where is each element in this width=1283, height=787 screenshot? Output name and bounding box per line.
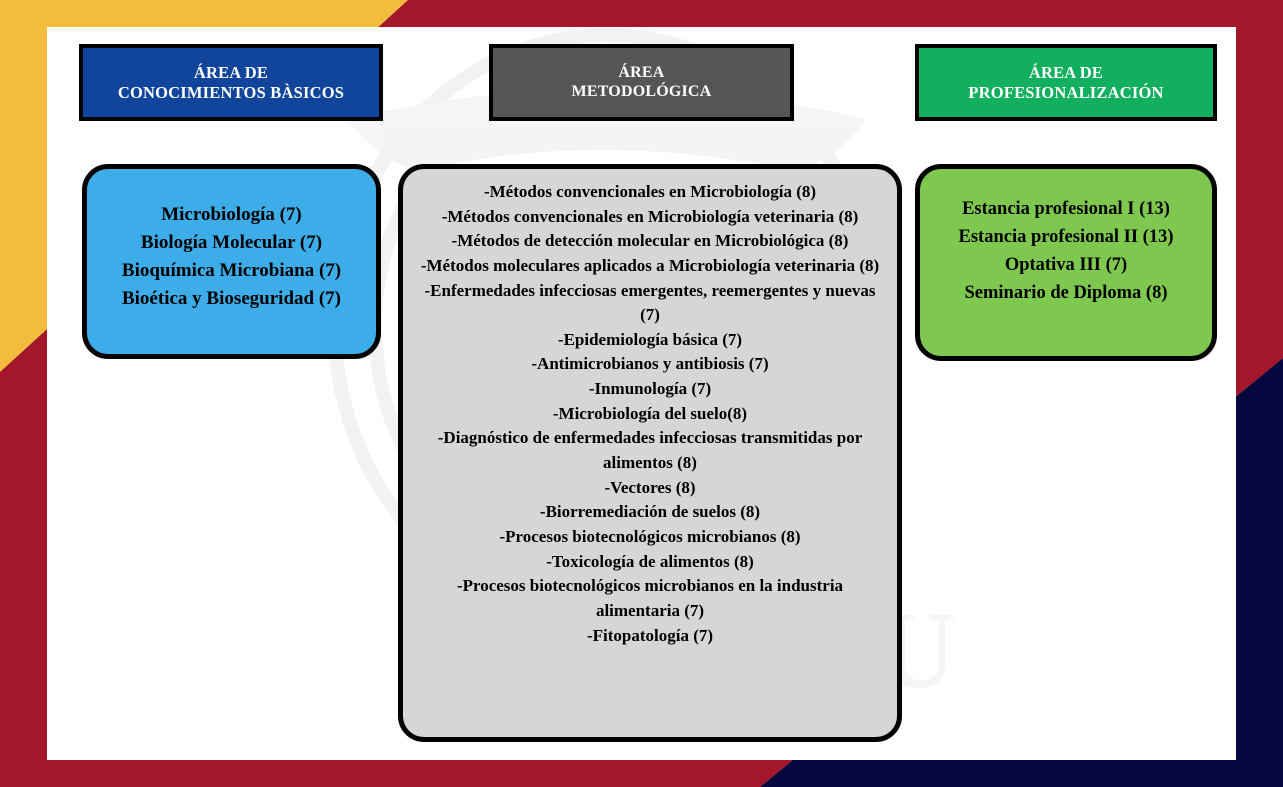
card-conocimientos-basicos[interactable]: Microbiología (7) Biología Molecular (7)… [82, 164, 381, 359]
slide-root: U ÁREA DE CONOCIMIENTOS BÀSICOS ÁREA MET… [0, 0, 1283, 787]
course-item: -Enfermedades infecciosas emergentes, re… [417, 279, 883, 328]
course-item: -Procesos biotecnológicos microbianos (8… [417, 525, 883, 550]
course-item: -Diagnóstico de enfermedades infecciosas… [417, 426, 883, 475]
course-item: -Epidemiología básica (7) [417, 328, 883, 353]
course-item: -Procesos biotecnológicos microbianos en… [417, 574, 883, 623]
course-item: -Inmunología (7) [417, 377, 883, 402]
course-item: Microbiología (7) [87, 201, 376, 229]
course-item: Bioquímica Microbiana (7) [87, 257, 376, 285]
course-item: -Métodos de detección molecular en Micro… [417, 229, 883, 254]
course-item: Optativa III (7) [920, 251, 1212, 279]
content-panel: U ÁREA DE CONOCIMIENTOS BÀSICOS ÁREA MET… [47, 27, 1236, 760]
course-item: -Métodos convencionales en Microbiología… [417, 205, 883, 230]
course-item: Estancia profesional I (13) [920, 195, 1212, 223]
course-item: -Métodos convencionales en Microbiología… [417, 180, 883, 205]
header-conocimientos-basicos-label: ÁREA DE CONOCIMIENTOS BÀSICOS [118, 63, 344, 101]
course-item: -Toxicología de alimentos (8) [417, 550, 883, 575]
course-item: -Fitopatología (7) [417, 624, 883, 649]
header-metodologica-label: ÁREA METODOLÓGICA [572, 64, 712, 101]
header-profesionalizacion-label: ÁREA DE PROFESIONALIZACIÓN [968, 63, 1163, 101]
course-item: Estancia profesional II (13) [920, 223, 1212, 251]
course-item: -Vectores (8) [417, 476, 883, 501]
course-item: -Métodos moleculares aplicados a Microbi… [417, 254, 883, 279]
card-profesionalizacion[interactable]: Estancia profesional I (13) Estancia pro… [915, 164, 1217, 361]
course-item: Bioética y Bioseguridad (7) [87, 285, 376, 313]
card-metodologica[interactable]: -Métodos convencionales en Microbiología… [398, 164, 902, 742]
course-item: -Antimicrobianos y antibiosis (7) [417, 352, 883, 377]
header-profesionalizacion[interactable]: ÁREA DE PROFESIONALIZACIÓN [915, 44, 1217, 121]
header-metodologica[interactable]: ÁREA METODOLÓGICA [489, 44, 794, 121]
course-item: Biología Molecular (7) [87, 229, 376, 257]
header-conocimientos-basicos[interactable]: ÁREA DE CONOCIMIENTOS BÀSICOS [79, 44, 383, 121]
course-item: -Microbiología del suelo(8) [417, 402, 883, 427]
course-item: -Biorremediación de suelos (8) [417, 500, 883, 525]
course-item: Seminario de Diploma (8) [920, 279, 1212, 307]
